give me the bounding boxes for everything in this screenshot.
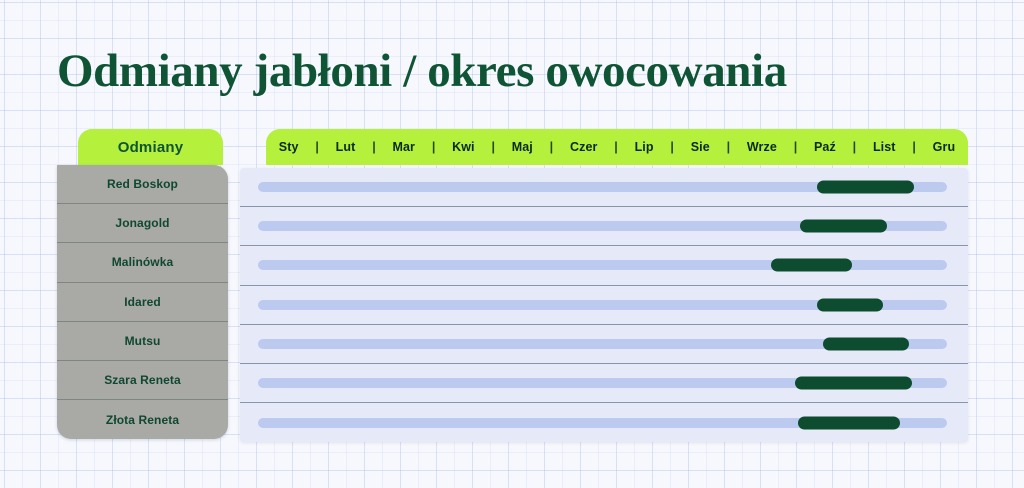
timeline-row[interactable] xyxy=(240,403,968,442)
month-label: Kwi xyxy=(452,140,475,154)
variety-list: Red BoskopJonagoldMalinówkaIdaredMutsuSz… xyxy=(57,165,228,439)
variety-row[interactable]: Red Boskop xyxy=(57,165,228,204)
fruiting-period-bar[interactable] xyxy=(823,337,909,350)
month-label: Czer xyxy=(570,140,598,154)
month-separator: | xyxy=(853,140,857,154)
variety-row[interactable]: Mutsu xyxy=(57,322,228,361)
month-cell[interactable]: Kwi xyxy=(452,140,475,154)
page-title: Odmiany jabłoni / okres owocowania xyxy=(57,44,787,98)
timeline-row[interactable] xyxy=(240,246,968,285)
month-cell[interactable]: Sty xyxy=(279,140,299,154)
month-cell[interactable]: Lut xyxy=(336,140,356,154)
month-cell[interactable]: Mar xyxy=(392,140,415,154)
month-cell[interactable]: Czer xyxy=(570,140,598,154)
variety-column-header: Odmiany xyxy=(78,129,223,165)
month-cell[interactable]: List xyxy=(873,140,896,154)
month-separator: | xyxy=(912,140,916,154)
variety-row[interactable]: Jonagold xyxy=(57,204,228,243)
month-label: Paź xyxy=(814,140,836,154)
timeline-row[interactable] xyxy=(240,364,968,403)
month-label: Sty xyxy=(279,140,299,154)
month-separator: | xyxy=(727,140,731,154)
timeline-row[interactable] xyxy=(240,325,968,364)
month-separator: | xyxy=(794,140,798,154)
month-label: Lip xyxy=(635,140,654,154)
month-cell[interactable]: Maj xyxy=(512,140,533,154)
fruiting-period-bar[interactable] xyxy=(817,298,883,311)
fruiting-period-bar[interactable] xyxy=(800,220,887,233)
month-label: Maj xyxy=(512,140,533,154)
month-separator: | xyxy=(372,140,376,154)
variety-name: Red Boskop xyxy=(107,177,178,191)
month-label: Lut xyxy=(336,140,356,154)
variety-name: Malinówka xyxy=(112,255,174,269)
month-cell[interactable]: Sie xyxy=(691,140,710,154)
timeline-row[interactable] xyxy=(240,168,968,207)
variety-name: Idared xyxy=(124,295,161,309)
month-label: List xyxy=(873,140,896,154)
month-separator: | xyxy=(491,140,495,154)
month-label: Sie xyxy=(691,140,710,154)
timeline-rows-panel xyxy=(240,168,968,442)
month-label: Gru xyxy=(933,140,956,154)
variety-row[interactable]: Malinówka xyxy=(57,243,228,282)
month-separator: | xyxy=(614,140,618,154)
month-cell[interactable]: Gru xyxy=(933,140,956,154)
month-separator: | xyxy=(432,140,436,154)
month-separator: | xyxy=(550,140,554,154)
fruiting-period-bar[interactable] xyxy=(771,259,851,272)
variety-row[interactable]: Idared xyxy=(57,283,228,322)
month-cell[interactable]: Wrze xyxy=(747,140,777,154)
fruiting-period-bar[interactable] xyxy=(798,416,900,429)
timeline-row[interactable] xyxy=(240,286,968,325)
month-separator: | xyxy=(670,140,674,154)
variety-name: Jonagold xyxy=(115,216,169,230)
fruiting-period-bar[interactable] xyxy=(795,377,912,390)
month-cell[interactable]: Lip xyxy=(635,140,654,154)
variety-row[interactable]: Szara Reneta xyxy=(57,361,228,400)
variety-row[interactable]: Złota Reneta xyxy=(57,400,228,439)
months-header: Sty|Lut|Mar|Kwi|Maj|Czer|Lip|Sie|Wrze|Pa… xyxy=(266,129,968,165)
variety-name: Mutsu xyxy=(125,334,161,348)
month-label: Mar xyxy=(392,140,415,154)
timeline-row[interactable] xyxy=(240,207,968,246)
month-separator: | xyxy=(315,140,319,154)
variety-name: Złota Reneta xyxy=(106,413,179,427)
variety-column: Odmiany Red BoskopJonagoldMalinówkaIdare… xyxy=(57,129,228,439)
fruiting-period-bar[interactable] xyxy=(817,181,915,194)
variety-name: Szara Reneta xyxy=(104,373,181,387)
month-cell[interactable]: Paź xyxy=(814,140,836,154)
month-label: Wrze xyxy=(747,140,777,154)
